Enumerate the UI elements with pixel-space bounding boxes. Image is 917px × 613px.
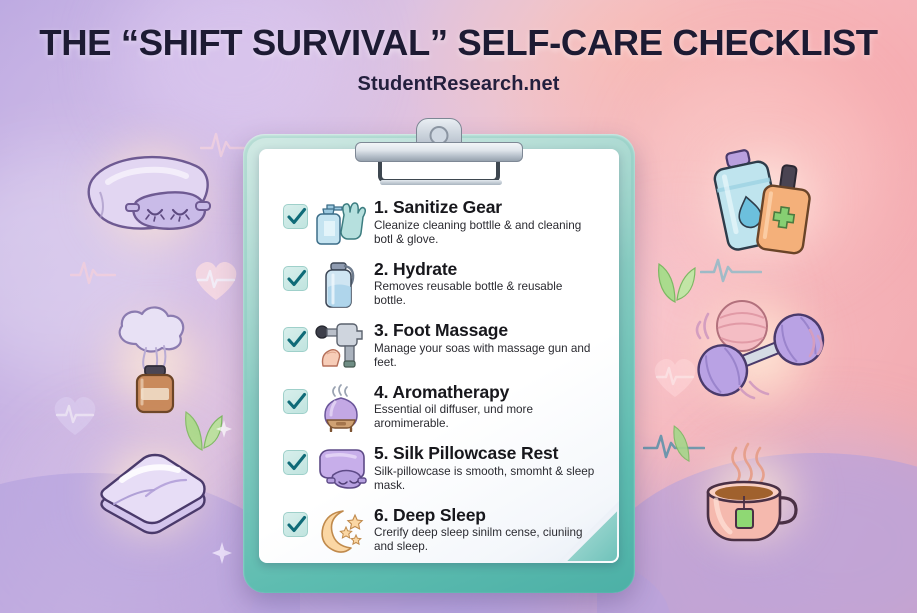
item-text: 5. Silk Pillowcase Rest Silk-pillowcase …: [374, 443, 596, 492]
item-title: 5. Silk Pillowcase Rest: [374, 444, 596, 464]
check-icon: [286, 514, 307, 535]
check-icon: [286, 391, 307, 412]
list-item[interactable]: 5. Silk Pillowcase Rest Silk-pillowcase …: [283, 443, 601, 493]
item-title: 1. Sanitize Gear: [374, 198, 596, 218]
checkbox-3[interactable]: [283, 327, 308, 352]
item-title: 4. Aromatherapy: [374, 383, 596, 403]
checklist: 1. Sanitize Gear Cleanize cleaning bottl…: [283, 197, 601, 563]
item-desc: Removes reusable bottle & reusable bottl…: [374, 280, 596, 308]
item-text: 6. Deep Sleep Crerify deep sleep sinilm …: [374, 505, 596, 554]
item-text: 3. Foot Massage Manage your soas with ma…: [374, 320, 596, 369]
item-desc: Silk-pillowcase is smooth, smomht & slee…: [374, 465, 596, 493]
diffuser-icon: [315, 384, 367, 432]
heart-pulse-icon: [190, 255, 242, 303]
item-title: 2. Hydrate: [374, 260, 596, 280]
item-desc: Essential oil diffuser, und more aromime…: [374, 403, 596, 431]
clip-bar: [355, 142, 523, 162]
check-icon: [286, 452, 307, 473]
item-text: 1. Sanitize Gear Cleanize cleaning bottl…: [374, 197, 596, 246]
checkbox-2[interactable]: [283, 266, 308, 291]
list-item[interactable]: 6. Deep Sleep Crerify deep sleep sinilm …: [283, 505, 601, 555]
tea-cup-decoration: [692, 438, 822, 548]
list-item[interactable]: 4. Aromatherapy Essential oil diffuser, …: [283, 382, 601, 432]
list-item[interactable]: 1. Sanitize Gear Cleanize cleaning bottl…: [283, 197, 601, 247]
clip-wire: [378, 161, 500, 183]
crescent-moon-stars-icon: [315, 507, 367, 555]
heart-pulse-icon: [48, 390, 102, 438]
poster-canvas: THE “SHIFT SURVIVAL” SELF-CARE CHECKLIST…: [0, 0, 917, 613]
checkbox-6[interactable]: [283, 512, 308, 537]
item-text: 2. Hydrate Removes reusable bottle & reu…: [374, 259, 596, 308]
item-title: 3. Foot Massage: [374, 321, 596, 341]
sparkle-icon: [212, 542, 232, 564]
pillow-sleepmask-icon: [315, 445, 367, 493]
massage-gun-foot-icon: [315, 322, 367, 370]
folded-towels-decoration: [82, 440, 222, 540]
pillow-sleepmask-decoration: [78, 140, 228, 250]
item-desc: Cleanize cleaning bottlle & and cleaning…: [374, 219, 596, 247]
check-icon: [286, 206, 307, 227]
ecg-heartbeat-line: [70, 258, 116, 288]
item-title: 6. Deep Sleep: [374, 506, 596, 526]
list-item[interactable]: 3. Foot Massage Manage your soas with ma…: [283, 320, 601, 370]
check-icon: [286, 268, 307, 289]
item-text: 4. Aromatherapy Essential oil diffuser, …: [374, 382, 596, 431]
header: THE “SHIFT SURVIVAL” SELF-CARE CHECKLIST…: [0, 22, 917, 96]
checkbox-4[interactable]: [283, 389, 308, 414]
clipboard: 1. Sanitize Gear Cleanize cleaning bottl…: [243, 134, 635, 593]
checklist-paper: 1. Sanitize Gear Cleanize cleaning bottl…: [259, 149, 619, 563]
essential-oil-bottle-mist-decoration: [100, 300, 210, 420]
item-desc: Crerify deep sleep sinilm cense, ciuniin…: [374, 526, 596, 554]
water-bottle-icon: [315, 261, 367, 309]
list-item[interactable]: 2. Hydrate Removes reusable bottle & reu…: [283, 259, 601, 309]
checkbox-5[interactable]: [283, 450, 308, 475]
spray-bottle-glove-icon: [315, 199, 367, 247]
check-icon: [286, 329, 307, 350]
dumbbell-massage-ball-decoration: [678, 296, 838, 408]
page-subtitle: StudentResearch.net: [0, 73, 917, 96]
item-desc: Manage your soas with massage gun and fe…: [374, 342, 596, 370]
sanitizer-bottles-decoration: [700, 140, 830, 260]
page-title: THE “SHIFT SURVIVAL” SELF-CARE CHECKLIST: [0, 22, 917, 64]
sparkle-icon: [216, 420, 232, 438]
checkbox-1[interactable]: [283, 204, 308, 229]
